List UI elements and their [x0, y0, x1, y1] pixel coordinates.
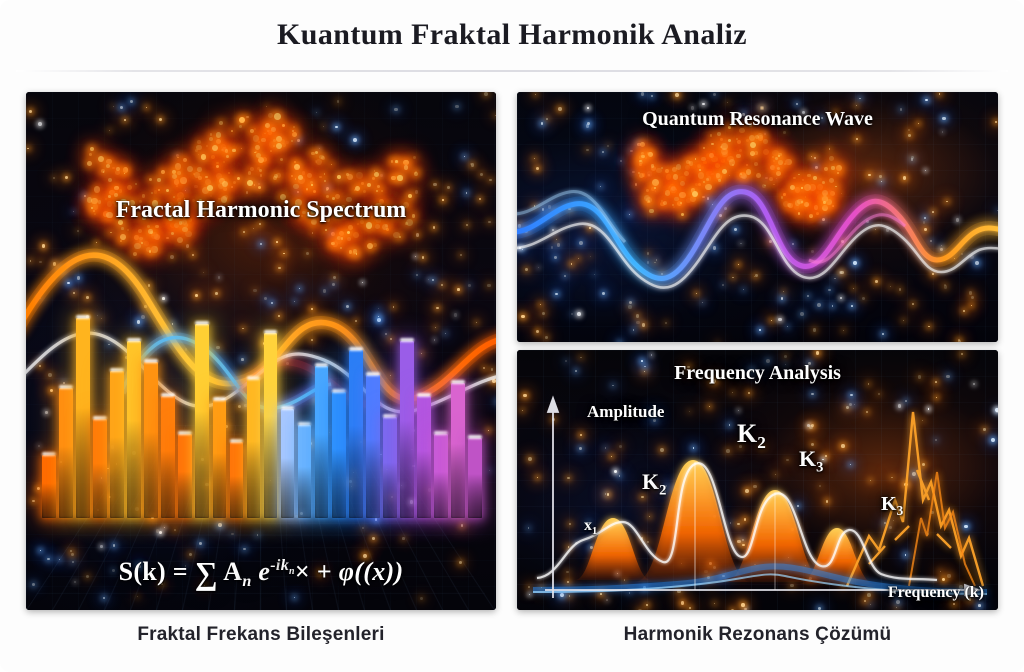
spectrum-bar [417, 396, 431, 518]
bar-reflection [332, 465, 346, 518]
bar-cap [434, 431, 448, 435]
spectrum-bar [332, 392, 346, 518]
spectrum-bar [144, 362, 158, 518]
bar-cap [383, 414, 397, 418]
bar-reflection [281, 472, 295, 518]
bar-reflection [178, 483, 192, 518]
spectrum-bar [451, 383, 465, 518]
bar-cap [127, 338, 141, 342]
bar-reflection [451, 461, 465, 518]
spectrum-bar [59, 388, 73, 519]
bar-cap [110, 368, 124, 372]
bar-cap [76, 315, 90, 319]
spectrum-bar [468, 438, 482, 518]
panel-fractal-harmonic-spectrum[interactable]: S(k) = ∑ An e-ikn× + φ((x)) Fractal Harm… [26, 92, 496, 610]
spectrum-bar [127, 341, 141, 518]
bar-cap [178, 431, 192, 435]
formula-x: × [295, 557, 310, 586]
bar-reflection [213, 469, 227, 519]
spectrum-bar [93, 419, 107, 518]
spectrum-bar [161, 396, 175, 518]
bar-cap [93, 416, 107, 420]
bar-cap [230, 439, 244, 443]
br-scene: Amplitude Frequency (k) x1K2K2K3K3 [517, 350, 998, 610]
peak-label: x1 [584, 517, 597, 537]
bar-reflection [127, 444, 141, 518]
spectrum-bar [247, 379, 261, 518]
spectrum-bar [178, 434, 192, 518]
bar-cap [298, 422, 312, 426]
formula-lhs: S(k) = [119, 557, 188, 586]
peak-label-sub: 3 [816, 459, 823, 475]
spectrum-formula: S(k) = ∑ An e-ikn× + φ((x)) [26, 555, 496, 592]
spectrum-bar [349, 350, 363, 518]
bar-cap [213, 397, 227, 401]
bar-reflection [349, 447, 363, 518]
formula-amplitude-sub: n [242, 573, 251, 590]
br-chart-layer [517, 350, 998, 610]
bar-reflection [366, 458, 380, 518]
bar-cap [451, 380, 465, 384]
spectrum-bar [434, 434, 448, 518]
bar-reflection [76, 434, 90, 518]
bar-reflection [264, 440, 278, 518]
spectrum-bar [298, 425, 312, 518]
bar-reflection [42, 492, 56, 519]
peak-label-sub: 2 [757, 433, 766, 452]
bar-cap [264, 330, 278, 334]
spectrum-bar [400, 341, 414, 518]
bar-reflection [434, 483, 448, 518]
bar-cap [281, 406, 295, 410]
title-bar: Kuantum Fraktal Harmonik Analiz [0, 0, 1024, 75]
bar-cap [400, 338, 414, 342]
bar-reflection [230, 486, 244, 518]
bar-cap [59, 385, 73, 389]
bar-cap [417, 393, 431, 397]
spectrum-bar [230, 442, 244, 518]
tr-scene [517, 92, 998, 342]
bar-reflection [195, 437, 209, 518]
spectrum-bar [383, 417, 397, 518]
peak-label-sub: 3 [897, 503, 904, 518]
bar-reflection [400, 444, 414, 518]
bar-cap [195, 321, 209, 325]
formula-exp-base: e [258, 557, 270, 586]
bar-reflection [315, 454, 329, 518]
spectrum-bar [281, 409, 295, 519]
bar-cap [42, 452, 56, 456]
bar-reflection [110, 456, 124, 518]
caption-right: Harmonik Rezonans Çözümü [517, 624, 998, 646]
bar-cap [144, 359, 158, 363]
bar-reflection [59, 463, 73, 518]
bar-reflection [161, 467, 175, 518]
bar-cap [468, 435, 482, 439]
bar-cap [247, 376, 261, 380]
peak-label-sub: 2 [659, 482, 666, 498]
formula-sigma: ∑ [195, 555, 218, 591]
bar-cap [315, 363, 329, 367]
peak-label-sub: 1 [592, 526, 597, 537]
peak-label: K2 [737, 419, 766, 453]
bar-reflection [417, 467, 431, 518]
spectrum-bar [213, 400, 227, 518]
spectrum-bar [264, 333, 278, 518]
left-spectrum-bars [26, 92, 496, 610]
spectrum-bar [76, 318, 90, 518]
tr-wave-layer [517, 92, 998, 342]
spectrum-bar [42, 455, 56, 518]
bar-cap [349, 347, 363, 351]
panel-quantum-resonance-wave[interactable]: Quantum Resonance Wave [517, 92, 998, 342]
title-divider [16, 70, 1008, 72]
bar-cap [332, 389, 346, 393]
spectrum-bar [195, 324, 209, 518]
peak-label: K3 [799, 446, 823, 476]
bar-reflection [383, 476, 397, 518]
peak-label: K3 [881, 493, 903, 519]
peak-label: K2 [642, 469, 666, 499]
bar-cap [366, 372, 380, 376]
bar-reflection [298, 479, 312, 518]
bar-cap [161, 393, 175, 397]
spectrum-bar [110, 371, 124, 518]
bar-reflection [247, 460, 261, 518]
left-scene: S(k) = ∑ An e-ikn× + φ((x)) [26, 92, 496, 610]
page-title: Kuantum Fraktal Harmonik Analiz [0, 18, 1024, 52]
formula-plus: + [317, 557, 332, 586]
spectrum-bar [366, 375, 380, 518]
bar-reflection [468, 484, 482, 518]
formula-phase: φ((x)) [339, 557, 404, 586]
panel-frequency-analysis[interactable]: Amplitude Frequency (k) x1K2K2K3K3 Frequ… [517, 350, 998, 610]
formula-exponent: -ikn [270, 557, 295, 574]
caption-left: Fraktal Frekans Bileşenleri [26, 624, 496, 646]
poster-root: Kuantum Fraktal Harmonik Analiz [0, 0, 1024, 672]
spectrum-bar [315, 366, 329, 518]
formula-amplitude: An [223, 557, 251, 586]
bar-reflection [144, 453, 158, 518]
bar-reflection [93, 476, 107, 518]
